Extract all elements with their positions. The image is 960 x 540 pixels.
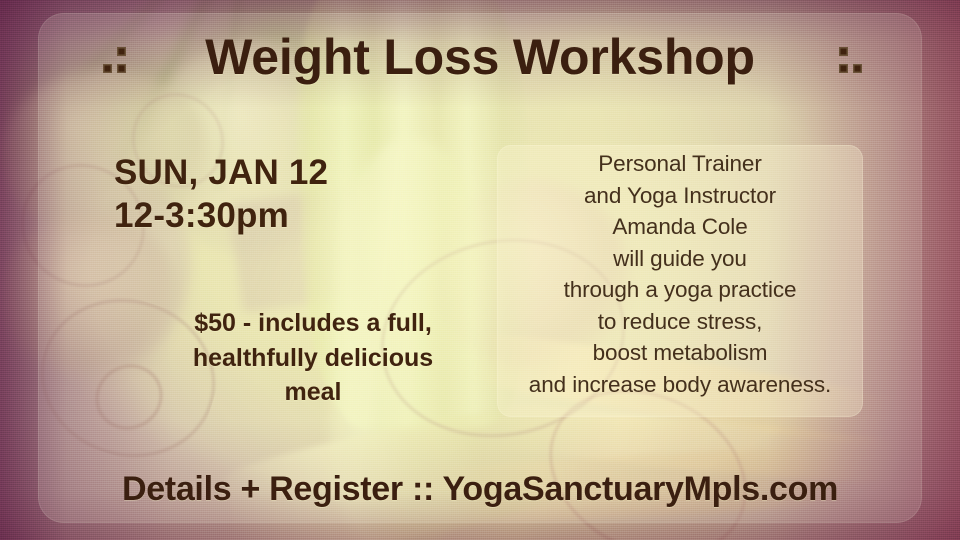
- dot-square-ornament-left-icon: [103, 47, 133, 79]
- info-line-8: and increase body awareness.: [497, 369, 863, 401]
- poster-canvas: Weight Loss Workshop SUN, JAN 12 12-3:30…: [0, 0, 960, 540]
- event-time: 12-3:30pm: [114, 195, 328, 238]
- event-date: SUN, JAN 12: [114, 152, 328, 195]
- page-title: Weight Loss Workshop: [205, 28, 755, 86]
- info-line-7: boost metabolism: [497, 337, 863, 369]
- info-line-4: will guide you: [497, 243, 863, 275]
- info-line-1: Personal Trainer: [497, 148, 863, 180]
- info-line-2: and Yoga Instructor: [497, 180, 863, 212]
- info-line-6: to reduce stress,: [497, 306, 863, 338]
- info-line-3: Amanda Cole: [497, 211, 863, 243]
- event-price-block: $50 - includes a full, healthfully delic…: [148, 306, 478, 410]
- event-date-time-block: SUN, JAN 12 12-3:30pm: [114, 152, 328, 237]
- title-row: Weight Loss Workshop: [0, 28, 960, 86]
- register-footer[interactable]: Details + Register :: YogaSanctuaryMpls.…: [0, 470, 960, 509]
- price-line-1: $50 - includes a full,: [148, 306, 478, 341]
- instructor-info-text: Personal Trainer and Yoga Instructor Ama…: [497, 148, 863, 400]
- dot-square-ornament-right-icon: [836, 47, 866, 79]
- info-line-5: through a yoga practice: [497, 274, 863, 306]
- price-line-3: meal: [148, 375, 478, 410]
- price-line-2: healthfully delicious: [148, 341, 478, 376]
